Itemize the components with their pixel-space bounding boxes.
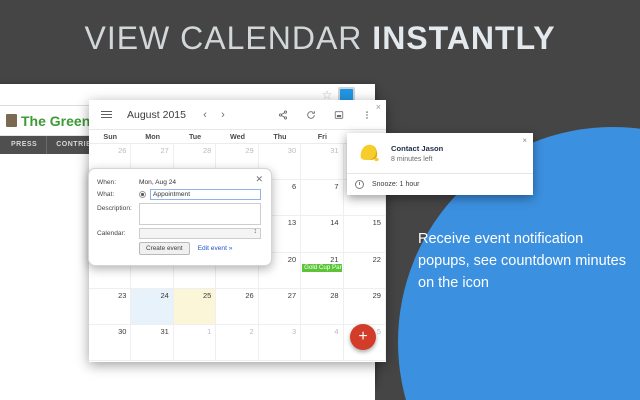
description-label: Description:: [97, 203, 139, 212]
notification-title: Contact Jason: [391, 144, 443, 153]
window-icon[interactable]: [330, 106, 348, 124]
bell-icon: [355, 141, 381, 165]
dow-thu: Thu: [259, 130, 301, 144]
site-nav-item-press[interactable]: PRESS: [2, 136, 47, 154]
calendar-day-number: 27: [259, 291, 296, 300]
calendar-day-number: 3: [259, 327, 296, 336]
calendar-day-number: 30: [89, 327, 126, 336]
calendar-day-cell[interactable]: 4: [301, 325, 343, 361]
overflow-menu-icon[interactable]: [358, 106, 376, 124]
calendar-day-number: 26: [216, 291, 253, 300]
calendar-select[interactable]: [139, 228, 261, 239]
event-dialog-actions: Create event Edit event »: [97, 242, 261, 255]
calendar-day-cell[interactable]: 27: [259, 289, 301, 325]
headline-bold: INSTANTLY: [372, 20, 555, 56]
calendar-day-cell[interactable]: 7: [301, 180, 343, 216]
calendar-day-number: 28: [301, 291, 338, 300]
hamburger-icon[interactable]: [97, 106, 115, 124]
calendar-select-row: Calendar:: [97, 228, 261, 239]
calendar-select-label: Calendar:: [97, 228, 139, 237]
calendar-day-number: 31: [301, 146, 338, 155]
when-label: When:: [97, 177, 139, 186]
when-row: When: Mon, Aug 24: [97, 177, 261, 186]
event-dialog-close-icon[interactable]: ✕: [255, 174, 263, 185]
notification-close-icon[interactable]: ×: [522, 136, 527, 145]
site-logo: [6, 114, 17, 127]
calendar-day-cell[interactable]: 31: [131, 325, 173, 361]
calendar-event-chip[interactable]: Gold Cup Part: [302, 264, 341, 272]
clock-icon: [355, 180, 364, 189]
calendar-day-number: 26: [89, 146, 126, 155]
calendar-day-cell[interactable]: 15: [344, 216, 386, 252]
calendar-close-icon[interactable]: ×: [376, 102, 381, 112]
calendar-week-row: 303112345: [89, 325, 386, 361]
add-event-fab[interactable]: +: [350, 324, 376, 350]
calendar-day-cell[interactable]: 2: [216, 325, 258, 361]
calendar-day-cell[interactable]: 31: [301, 144, 343, 180]
calendar-toolbar: August 2015 ‹ ›: [89, 100, 386, 130]
share-icon[interactable]: [274, 106, 292, 124]
what-input[interactable]: [150, 189, 261, 200]
calendar-week-row: 23242526272829: [89, 289, 386, 325]
description-row: Description:: [97, 203, 261, 225]
calendar-day-number: 31: [131, 327, 168, 336]
calendar-day-number: 15: [344, 218, 381, 227]
event-dialog: ✕ When: Mon, Aug 24 What: Description: C…: [88, 168, 272, 266]
calendar-day-number: 30: [259, 146, 296, 155]
calendar-day-cell[interactable]: 21Gold Cup Part: [301, 253, 343, 289]
promo-banner: VIEW CALENDAR INSTANTLY Receive event no…: [0, 0, 640, 400]
calendar-day-number: 1: [174, 327, 211, 336]
calendar-day-number: 28: [174, 146, 211, 155]
calendar-day-number: 29: [216, 146, 253, 155]
calendar-day-number: 2: [216, 327, 253, 336]
promo-description: Receive event notification popups, see c…: [418, 228, 633, 294]
notification-footer[interactable]: Snooze: 1 hour: [347, 174, 533, 194]
create-event-button[interactable]: Create event: [139, 242, 190, 255]
calendar-day-number: 4: [301, 327, 338, 336]
headline-light: VIEW CALENDAR: [84, 20, 372, 56]
calendar-day-cell[interactable]: 26: [216, 289, 258, 325]
dow-wed: Wed: [216, 130, 258, 144]
day-of-week-header: Sun Mon Tue Wed Thu Fri Sat: [89, 130, 386, 144]
calendar-day-cell[interactable]: 3: [259, 325, 301, 361]
dow-mon: Mon: [131, 130, 173, 144]
what-label: What:: [97, 189, 139, 198]
calendar-day-number: 21: [301, 255, 338, 264]
calendar-day-cell[interactable]: 22: [344, 253, 386, 289]
notification-body: Contact Jason 8 minutes left: [347, 133, 533, 174]
calendar-day-number: 29: [344, 291, 381, 300]
dow-sun: Sun: [89, 130, 131, 144]
snooze-label[interactable]: Snooze: 1 hour: [372, 181, 419, 188]
calendar-day-cell[interactable]: 23: [89, 289, 131, 325]
dow-fri: Fri: [301, 130, 343, 144]
notification-subtitle: 8 minutes left: [391, 156, 443, 163]
calendar-day-cell[interactable]: 24: [131, 289, 173, 325]
calendar-day-cell[interactable]: 25: [174, 289, 216, 325]
edit-event-link[interactable]: Edit event »: [198, 245, 233, 252]
calendar-day-number: 24: [131, 291, 168, 300]
notification-popup: × Contact Jason 8 minutes left Snooze: 1…: [347, 133, 533, 195]
page-title: VIEW CALENDAR INSTANTLY: [0, 20, 640, 57]
calendar-day-number: 27: [131, 146, 168, 155]
calendar-day-number: 14: [301, 218, 338, 227]
what-radio[interactable]: [139, 191, 146, 198]
calendar-day-number: 7: [301, 182, 338, 191]
description-input[interactable]: [139, 203, 261, 225]
prev-month-button[interactable]: ‹: [196, 106, 214, 124]
when-value[interactable]: Mon, Aug 24: [139, 177, 176, 186]
calendar-day-cell[interactable]: 1: [174, 325, 216, 361]
calendar-day-number: 25: [174, 291, 211, 300]
calendar-day-number: 23: [89, 291, 126, 300]
next-month-button[interactable]: ›: [214, 106, 232, 124]
what-row: What:: [97, 189, 261, 200]
refresh-icon[interactable]: [302, 106, 320, 124]
calendar-day-cell[interactable]: 30: [89, 325, 131, 361]
notification-text: Contact Jason 8 minutes left: [391, 144, 443, 163]
month-label: August 2015: [127, 109, 186, 121]
dow-tue: Tue: [174, 130, 216, 144]
calendar-day-cell[interactable]: 29: [344, 289, 386, 325]
calendar-day-cell[interactable]: 28: [301, 289, 343, 325]
calendar-day-number: 22: [344, 255, 381, 264]
toolbar-actions: [274, 106, 376, 124]
calendar-day-cell[interactable]: 14: [301, 216, 343, 252]
